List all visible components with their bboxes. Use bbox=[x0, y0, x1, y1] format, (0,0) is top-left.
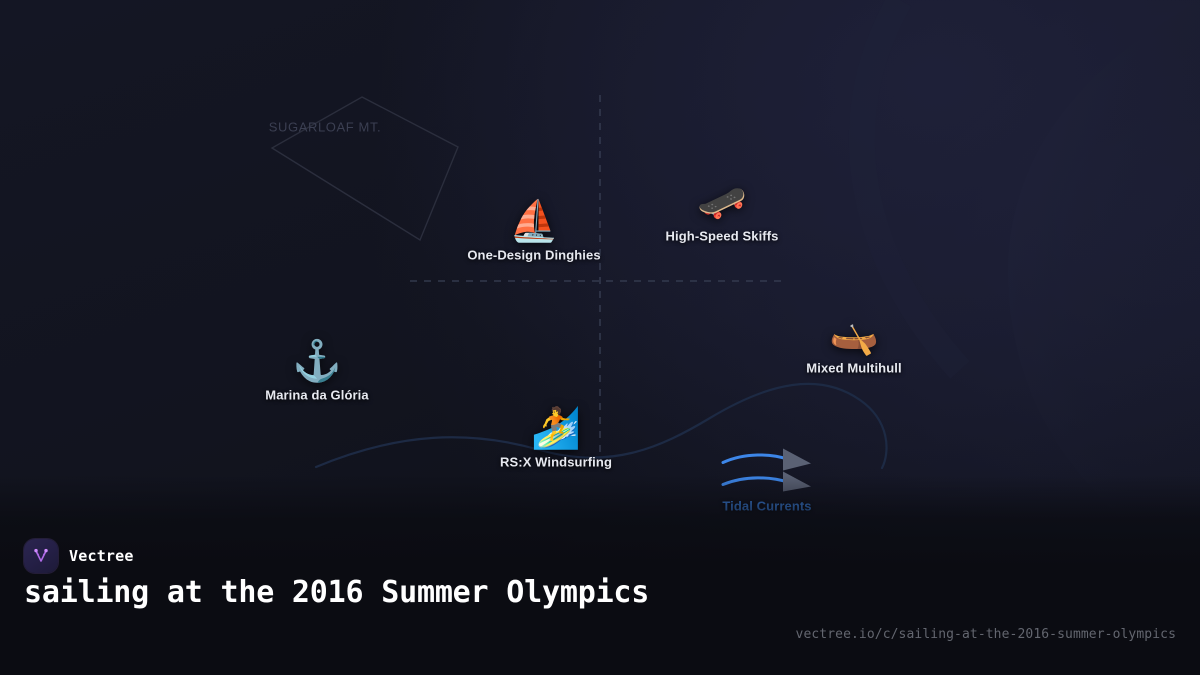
map-node-marina-da-gloria[interactable]: ⚓ Marina da Glória bbox=[265, 342, 368, 403]
source-url: vectree.io/c/sailing-at-the-2016-summer-… bbox=[796, 627, 1176, 642]
map-node-label: High-Speed Skiffs bbox=[666, 229, 779, 244]
region-label-sugarloaf: SUGARLOAF MT. bbox=[269, 120, 382, 135]
map-node-label: One-Design Dinghies bbox=[467, 248, 600, 263]
current-arrows-icon bbox=[721, 447, 813, 493]
anchor-icon: ⚓ bbox=[292, 342, 342, 382]
brand-name: Vectree bbox=[69, 547, 134, 565]
skateboard-icon: 🛹 bbox=[697, 183, 747, 223]
map-node-high-speed-skiffs[interactable]: 🛹 High-Speed Skiffs bbox=[666, 183, 779, 244]
map-node-mixed-multihull[interactable]: 🛶 Mixed Multihull bbox=[806, 315, 901, 376]
map-node-one-design-dinghies[interactable]: ⛵ One-Design Dinghies bbox=[467, 202, 600, 263]
map-node-label: Marina da Glória bbox=[265, 388, 368, 403]
map-node-rsx-windsurfing[interactable]: 🏄 RS:X Windsurfing bbox=[500, 409, 612, 470]
sailboat-icon: ⛵ bbox=[509, 202, 559, 242]
map-node-tidal-currents[interactable]: Tidal Currents bbox=[721, 447, 813, 514]
map-node-label: Mixed Multihull bbox=[806, 361, 901, 376]
map-node-label: Tidal Currents bbox=[722, 499, 811, 514]
canoe-icon: 🛶 bbox=[829, 315, 879, 355]
background-sweep bbox=[1008, 0, 1200, 575]
poster-canvas: SUGARLOAF MT. ⛵ One-Design Dinghies 🛹 Hi… bbox=[0, 0, 1200, 675]
map-node-label: RS:X Windsurfing bbox=[500, 455, 612, 470]
footer: Vectree sailing at the 2016 Summer Olymp… bbox=[0, 515, 1200, 675]
page-title: sailing at the 2016 Summer Olympics bbox=[24, 577, 649, 609]
sugarloaf-mountain-outline bbox=[272, 97, 458, 240]
surfer-icon: 🏄 bbox=[531, 409, 581, 449]
vectree-tree-logo-icon bbox=[24, 539, 58, 573]
brand-row: Vectree bbox=[24, 539, 134, 573]
